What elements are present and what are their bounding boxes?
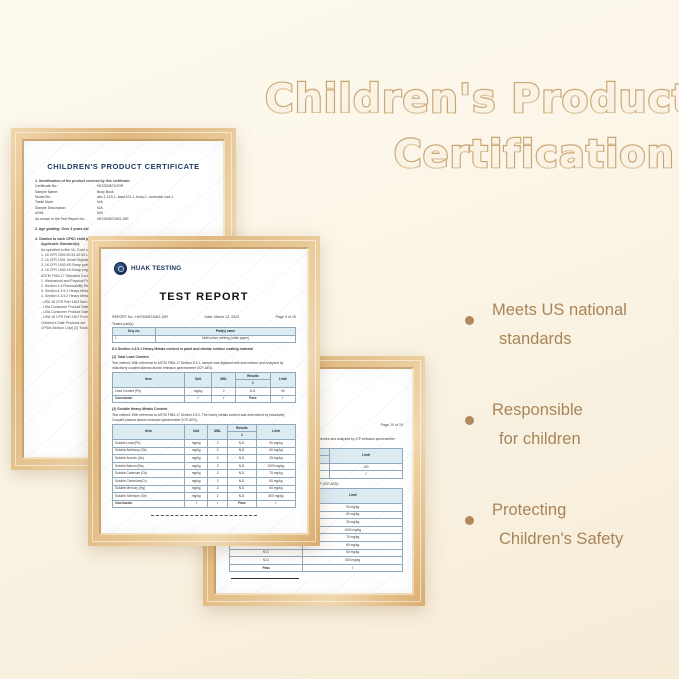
certificate-section-2: 2. Age grading: Over 3 years old [35, 227, 212, 232]
bullet-text-line-2: standards [492, 325, 677, 354]
report9-date: Date: March 13, 2023 [205, 315, 240, 319]
table-cell: 500 mg/kg [256, 493, 295, 501]
table-cell: mg/kg [185, 477, 208, 485]
table-cell: 100 [329, 463, 402, 471]
report9-tested-parts-label: Tested part(s): [112, 322, 296, 326]
report9-lead-method: Test method: With reference to ASTM F963… [112, 361, 296, 371]
report9-lead-heading: (1) Total Lead Content [112, 355, 296, 359]
table-cell: Soluble Selenium (Se) [113, 493, 185, 501]
bullet-text: Responsiblefor children [492, 396, 677, 454]
table-header-cell: Results [228, 424, 257, 432]
table-cell: N.D. [228, 470, 257, 478]
table-cell: 90 mg/kg [256, 439, 295, 447]
report9-end-rule [151, 515, 258, 516]
table-header-cell: Seq. no. [113, 328, 156, 336]
table-cell: Lead Content (Pb) [113, 387, 185, 395]
field-key: As shown in the Test Report No.: [35, 217, 97, 222]
feature-bullet-list: Meets US nationalstandardsResponsiblefor… [462, 296, 677, 596]
table-cell: 2 [208, 455, 228, 463]
table-cell: 75 mg/kg [256, 470, 295, 478]
table-header-cell: Unit [185, 424, 208, 439]
table-cell: / [212, 395, 236, 403]
table-cell: / [256, 500, 295, 508]
bullet-dot-icon [465, 516, 474, 525]
report10-end-rule [231, 578, 299, 579]
report9-tested-parts-table: Seq. no.Part(s) name1Multi colour printi… [112, 327, 296, 343]
table-cell: mg/kg [185, 493, 208, 501]
title-line-1: Children's Product [265, 72, 675, 127]
report9-page: Page 9 of 19 [276, 315, 296, 319]
table-cell: 2 [212, 387, 236, 395]
table-header-cell: Part(s) name [156, 328, 296, 336]
bullet-text-line-2: for children [492, 425, 677, 454]
table-cell: / [184, 395, 212, 403]
table-cell: Pass [230, 564, 303, 572]
table-row: Soluble Arsenic (As)mg/kg2N.D.25 mg/kg [113, 455, 296, 463]
table-cell: 25 mg/kg [256, 455, 295, 463]
table-cell: 2 [208, 470, 228, 478]
seal-icon [114, 262, 127, 275]
report9-title: TEST REPORT [112, 291, 296, 303]
table-cell: N.D. [228, 493, 257, 501]
table-cell: Multi colour printing (white paper) [156, 335, 296, 343]
table-cell: N.D. [236, 387, 271, 395]
field-value: HK2300871MO-19R [97, 217, 212, 222]
table-cell: Soluble Mercury (Hg) [113, 485, 185, 493]
table-cell: N.D. [228, 462, 257, 470]
report9-paper: HUAK TESTING TEST REPORT REPORT No.: HK2… [101, 249, 307, 533]
report9-soluble-table: ItemUnitMDLResultsLimit1Soluble Lead (Pb… [112, 424, 296, 509]
table-cell: Soluble Chromium(Cr) [113, 477, 185, 485]
table-cell: 2 [208, 485, 228, 493]
promo-banner: CHILDREN'S PRODUCT CERTIFICATE 1. Identi… [0, 0, 679, 679]
report9-lead-table: ItemUnitMDLResultsLimit1Lead Content (Pb… [112, 372, 296, 403]
report9-meta: REPORT No.: HK2300871MO-19R Date: March … [112, 315, 296, 319]
table-cell: / [303, 564, 403, 572]
table-cell: N.D. [228, 477, 257, 485]
table-cell: 1000 mg/kg [256, 462, 295, 470]
table-cell: 2 [208, 477, 228, 485]
data-table: Seq. no.Part(s) name1Multi colour printi… [112, 327, 296, 343]
title-line-2: Certification [265, 127, 675, 182]
table-cell: mg/kg [184, 387, 212, 395]
table-cell: 500 mg/kg [303, 557, 403, 565]
table-header-cell: Limit [256, 424, 295, 439]
table-row: Soluble Barium (Ba)mg/kg2N.D.1000 mg/kg [113, 462, 296, 470]
table-row: Lead Content (Pb)mg/kg2N.D.90 [113, 387, 296, 395]
table-cell: 2 [208, 447, 228, 455]
table-header-cell: Unit [184, 372, 212, 387]
table-cell: Soluble Arsenic (As) [113, 455, 185, 463]
table-cell: N.D. [228, 485, 257, 493]
report9-soluble-method: Test method: With reference to ASTM F963… [112, 413, 296, 423]
table-header-cell: Results [236, 372, 271, 380]
table-row: Soluble Antimony (Sb)mg/kg2N.D.60 mg/kg [113, 447, 296, 455]
table-cell: N.D. [228, 455, 257, 463]
table-header-cell: Limit [329, 448, 402, 463]
table-cell: Soluble Cadmium (Cd) [113, 470, 185, 478]
table-cell: Conclusion [113, 395, 185, 403]
table-row: Soluble Lead (Pb)mg/kg2N.D.90 mg/kg [113, 439, 296, 447]
table-cell: mg/kg [185, 439, 208, 447]
table-cell: mg/kg [185, 447, 208, 455]
table-subheader-cell: 1 [228, 432, 257, 440]
table-cell: 60 mg/kg [256, 477, 295, 485]
table-cell: / [270, 395, 295, 403]
bullet-dot-icon [465, 416, 474, 425]
page-title: Children's Product Certification [265, 72, 675, 182]
table-cell: mg/kg [185, 462, 208, 470]
table-cell: 60 mg/kg [256, 485, 295, 493]
certificate-title: CHILDREN'S PRODUCT CERTIFICATE [35, 162, 212, 171]
report9-section-title: 8.3 Section 4.3.5.1 Heavy Metals content… [112, 347, 296, 351]
table-cell: mg/kg [185, 485, 208, 493]
table-cell: / [185, 500, 208, 508]
table-header-cell: Limit [270, 372, 295, 387]
table-row: N.D.500 mg/kg [230, 557, 403, 565]
table-row: Soluble Mercury (Hg)mg/kg2N.D.60 mg/kg [113, 485, 296, 493]
table-cell: 60 mg/kg [303, 549, 403, 557]
table-row: 1Multi colour printing (white paper) [113, 335, 296, 343]
table-cell: Soluble Lead (Pb) [113, 439, 185, 447]
data-table: ItemUnitMDLResultsLimit1Soluble Lead (Pb… [112, 424, 296, 509]
bullet-dot-icon [465, 316, 474, 325]
feature-bullet-2: Responsiblefor children [462, 396, 677, 454]
certificate-field-row: As shown in the Test Report No.:HK230087… [35, 217, 212, 222]
table-row: Conclusion//Pass/ [113, 500, 296, 508]
report9-report-no: REPORT No.: HK2300871MO-19R [112, 315, 168, 319]
table-row: Conclusion//Pass/ [113, 395, 296, 403]
feature-bullet-1: Meets US nationalstandards [462, 296, 677, 354]
brand-name: HUAK TESTING [131, 265, 181, 272]
table-cell: mg/kg [185, 470, 208, 478]
table-row: Pass/ [230, 564, 403, 572]
table-cell: Pass [228, 500, 257, 508]
table-cell: 2 [208, 462, 228, 470]
table-cell: Soluble Antimony (Sb) [113, 447, 185, 455]
table-cell: N.D. [230, 557, 303, 565]
table-cell: / [208, 500, 228, 508]
table-cell: 1 [113, 335, 156, 343]
huak-testing-logo: HUAK TESTING [114, 262, 296, 275]
table-row: N.D.60 mg/kg [230, 549, 403, 557]
table-cell: mg/kg [185, 455, 208, 463]
table-cell: 2 [208, 493, 228, 501]
table-cell: 90 [270, 387, 295, 395]
table-header-cell: MDL [212, 372, 236, 387]
table-header-cell: MDL [208, 424, 228, 439]
table-cell: Conclusion [113, 500, 185, 508]
framed-test-report-page-9[interactable]: HUAK TESTING TEST REPORT REPORT No.: HK2… [88, 236, 320, 546]
table-cell: N.D. [230, 549, 303, 557]
table-cell: N.D. [228, 447, 257, 455]
bullet-text: Meets US nationalstandards [492, 296, 677, 354]
bullet-text: ProtectingChildren's Safety [492, 496, 677, 554]
table-cell: Soluble Barium (Ba) [113, 462, 185, 470]
table-header-cell: Item [113, 372, 185, 387]
table-row: Soluble Selenium (Se)mg/kg2N.D.500 mg/kg [113, 493, 296, 501]
table-cell: / [329, 471, 402, 479]
table-cell: N.D. [228, 439, 257, 447]
table-cell: 2 [208, 439, 228, 447]
table-row: Soluble Chromium(Cr)mg/kg2N.D.60 mg/kg [113, 477, 296, 485]
table-row: Soluble Cadmium (Cd)mg/kg2N.D.75 mg/kg [113, 470, 296, 478]
report10-page: Page 10 of 19 [381, 423, 403, 427]
bullet-text-line-2: Children's Safety [492, 525, 677, 554]
report9-content: HUAK TESTING TEST REPORT REPORT No.: HK2… [101, 249, 307, 533]
certificate-fields: Certificate No.:HK2300871HORSample Name:… [35, 184, 212, 222]
feature-bullet-3: ProtectingChildren's Safety [462, 496, 677, 554]
table-cell: 60 mg/kg [256, 447, 295, 455]
table-header-cell: Item [113, 424, 185, 439]
table-subheader-cell: 1 [236, 380, 271, 388]
report9-soluble-heading: (2) Soluble Heavy Metals Content [112, 407, 296, 411]
data-table: ItemUnitMDLResultsLimit1Lead Content (Pb… [112, 372, 296, 403]
table-cell: Pass [236, 395, 271, 403]
